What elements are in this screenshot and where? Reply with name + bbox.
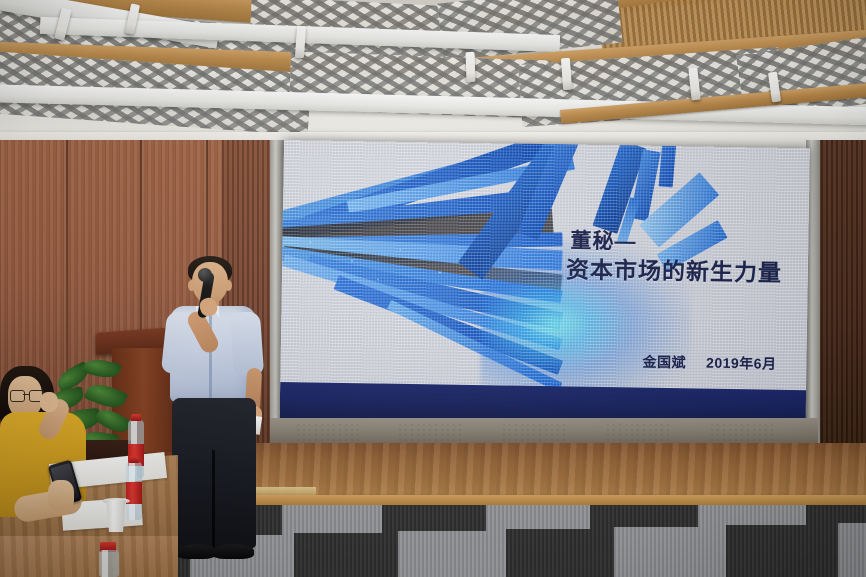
water-bottle (126, 462, 142, 520)
floor-tile (506, 529, 614, 577)
water-bottle (99, 550, 119, 577)
bottle-cap (129, 456, 139, 463)
floor-tile (294, 533, 398, 577)
speaker-shoe-left (176, 544, 216, 559)
slide-presenter-name: 金国斌 (642, 354, 686, 371)
led-display-screen: 董秘— 资本市场的新生力量 金国斌2019年6月 (280, 140, 810, 432)
floor-tile (398, 531, 506, 577)
ceiling-downlight (465, 52, 475, 82)
slide-title: 董秘— 资本市场的新生力量 (566, 228, 783, 287)
audience-person-hand (40, 392, 58, 412)
slide-title-line1: 董秘— (566, 228, 782, 257)
floor-tile (838, 523, 866, 577)
bottle-cap (131, 414, 141, 421)
eyeglasses-icon (10, 390, 42, 400)
audience-person2-hand (48, 480, 74, 510)
floor-tile (614, 527, 726, 577)
speaker-sleeve-right (230, 311, 264, 377)
slide-byline: 金国斌2019年6月 (642, 352, 776, 374)
floor-tile (726, 525, 838, 577)
slide-title-line2: 资本市场的新生力量 (566, 254, 782, 287)
ceiling (0, 0, 866, 152)
photo-scene: 董秘— 资本市场的新生力量 金国斌2019年6月 (0, 0, 866, 577)
audience-table-front-edge (0, 536, 178, 577)
slide-date: 2019年6月 (706, 355, 777, 372)
speaker-shoe-right (212, 544, 254, 559)
slide-starfield (290, 230, 491, 293)
